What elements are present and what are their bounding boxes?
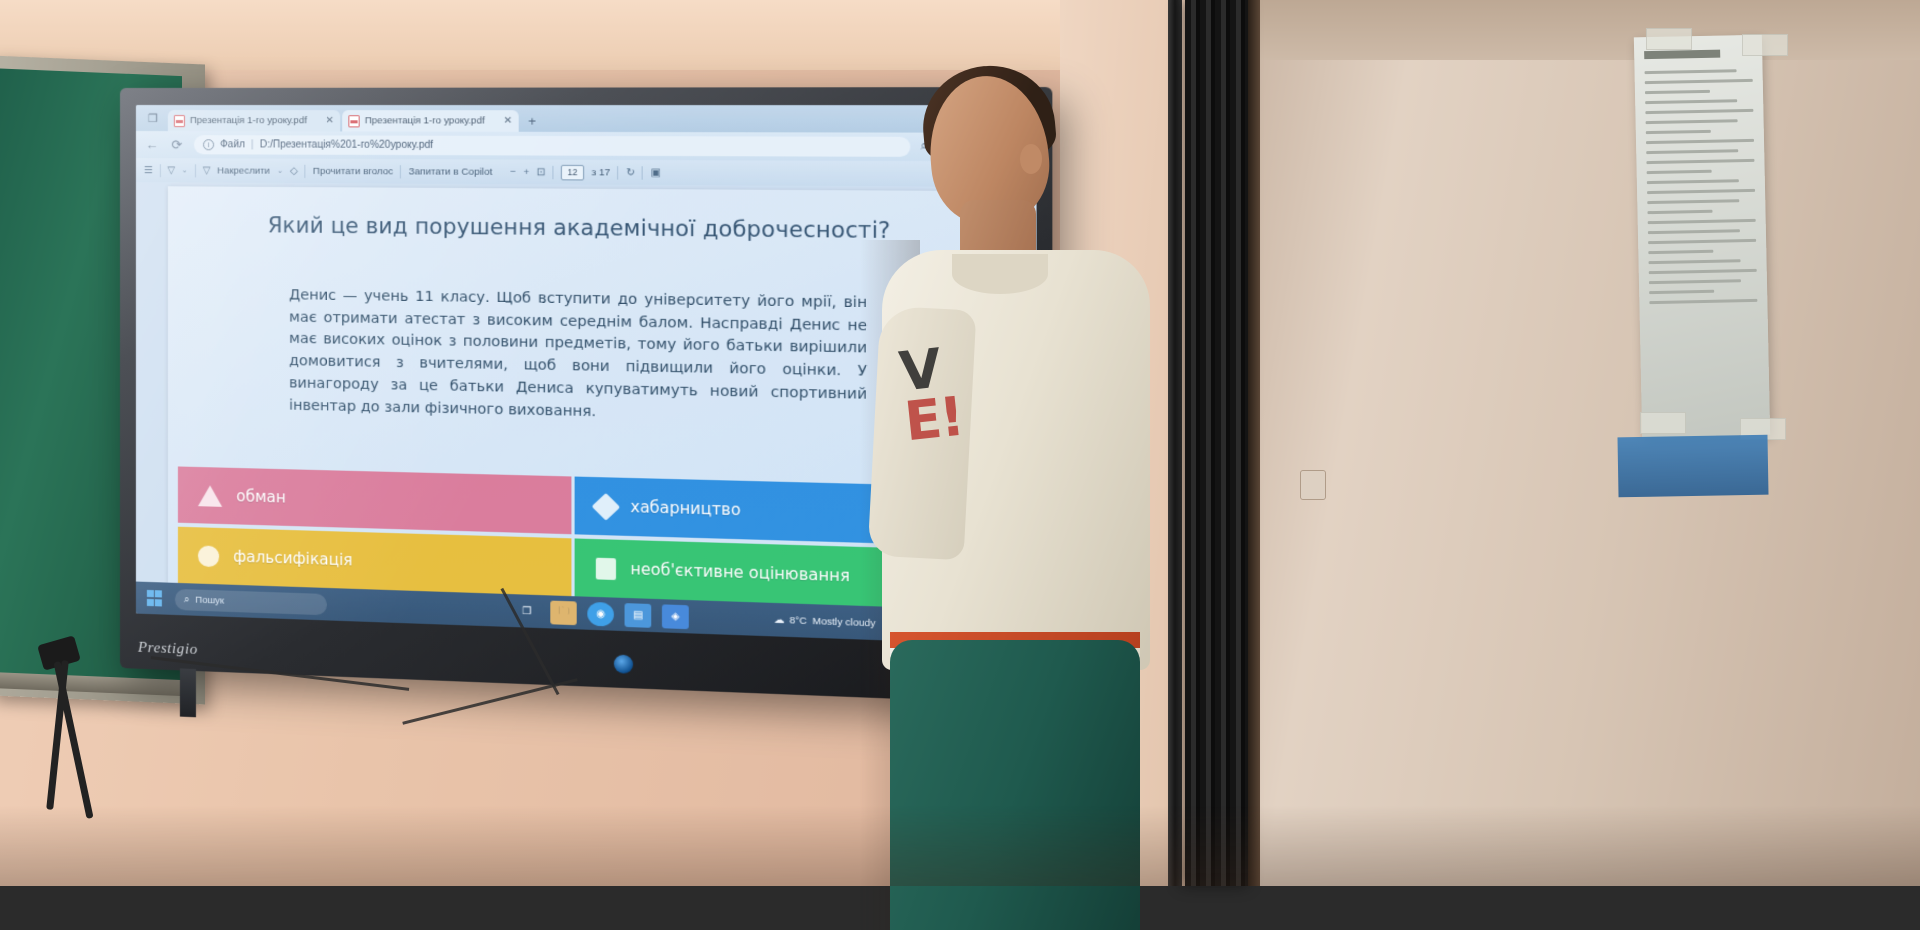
wall-far (1255, 0, 1920, 886)
circle-icon (198, 545, 219, 567)
highlight-chevron-down-icon[interactable]: ⌄ (182, 166, 188, 174)
page-total-label: з 17 (591, 167, 610, 178)
sidebar-toggle-icon[interactable]: ☰ (144, 165, 153, 176)
back-icon[interactable]: ← (144, 137, 160, 153)
divider (195, 164, 196, 177)
rotate-icon[interactable]: ↻ (626, 167, 635, 178)
answer-label: хабарництво (630, 498, 740, 520)
slide-body-text: Денис — учень 11 класу. Щоб вступити до … (289, 285, 867, 429)
store-icon[interactable]: ▤ (625, 603, 652, 628)
answer-label: обман (236, 487, 285, 507)
triangle-icon (198, 485, 222, 507)
draw-button-label[interactable]: Накреслити (217, 165, 270, 176)
door-frame (1248, 0, 1260, 886)
answer-option-1[interactable]: обман (178, 466, 571, 534)
copilot-button[interactable]: Запитати в Copilot (409, 166, 493, 178)
weather-temp: 8°C (790, 614, 807, 626)
new-tab-button[interactable]: + (521, 113, 544, 132)
divider (642, 166, 643, 179)
tape-bottom-left (1640, 412, 1686, 434)
windows-icon (147, 590, 162, 606)
read-aloud-button[interactable]: Прочитати вголос (313, 165, 393, 177)
pdf-file-icon (348, 115, 359, 127)
wall-socket (1300, 470, 1326, 500)
file-explorer-icon[interactable]: 🗀 (550, 600, 576, 625)
tape-top-right (1742, 34, 1788, 56)
floor-shadow (0, 806, 1920, 886)
answer-label: необ'єктивне оцінювання (630, 560, 849, 586)
pdf-file-icon (174, 115, 185, 127)
tshirt-print: V E! (897, 333, 1059, 561)
copilot-icon[interactable]: ◈ (662, 604, 689, 629)
tab-title: Презентація 1-го уроку.pdf (365, 115, 499, 126)
answer-label: фальсифікація (233, 548, 352, 570)
browser-tab-2[interactable]: Презентація 1-го уроку.pdf ✕ (342, 110, 518, 132)
draw-icon[interactable]: ▽ (203, 165, 210, 176)
fit-to-page-icon[interactable]: ⊡ (537, 166, 545, 177)
diamond-icon (591, 492, 620, 520)
start-button[interactable] (144, 587, 165, 609)
display-stand-left (180, 668, 196, 717)
search-icon: ⌕ (184, 594, 189, 605)
info-icon[interactable]: i (203, 139, 214, 150)
divider (159, 164, 160, 177)
page-number-input[interactable]: 12 (561, 164, 584, 180)
edge-icon[interactable]: ◉ (587, 601, 614, 626)
tab-actions-icon[interactable]: ❐ (144, 109, 162, 127)
zoom-in-button[interactable]: + (523, 166, 529, 177)
address-input[interactable]: i Файл | D:/Презентація%201-го%20уроку.p… (194, 135, 911, 157)
display-brand: Prestigio (138, 640, 198, 659)
tab-title: Презентація 1-го уроку.pdf (190, 115, 320, 126)
divider (552, 165, 553, 178)
wall-poster (1634, 35, 1770, 438)
url-scheme-label: Файл (220, 139, 245, 150)
cloud-icon: ☁ (774, 614, 784, 626)
url-separator: | (251, 139, 254, 150)
square-icon (595, 557, 615, 579)
layout-icon[interactable]: ▣ (651, 167, 661, 178)
tape-top-left (1646, 28, 1692, 50)
draw-chevron-down-icon[interactable]: ⌄ (277, 167, 283, 175)
classroom-scene: Prestigio ❐ Презентація 1-го уроку.pdf ✕… (0, 0, 1920, 886)
divider (400, 165, 401, 178)
url-path: D:/Презентація%201-го%20уроку.pdf (260, 139, 433, 151)
person-standing: V E! (900, 40, 1230, 886)
slide-title: Який це вид порушення академічної доброч… (196, 213, 969, 244)
taskbar-search-input[interactable]: ⌕ Пошук (175, 588, 327, 614)
wall-far-top (1255, 0, 1920, 60)
shorts (890, 640, 1140, 930)
divider (618, 166, 619, 179)
erase-icon[interactable]: ◇ (290, 165, 297, 176)
close-icon[interactable]: ✕ (325, 115, 334, 126)
highlight-icon[interactable]: ▽ (167, 165, 174, 176)
tshirt-collar (952, 254, 1048, 294)
power-indicator (614, 654, 633, 673)
divider (305, 164, 306, 177)
wall-poster-blue (1617, 435, 1768, 498)
search-placeholder: Пошук (195, 594, 224, 606)
zoom-out-button[interactable]: − (510, 166, 516, 177)
close-icon[interactable]: ✕ (504, 115, 513, 126)
reload-icon[interactable]: ⟳ (169, 137, 185, 153)
tshirt-print-line2: E! (902, 383, 1046, 447)
ear (1020, 144, 1042, 174)
browser-tab-1[interactable]: Презентація 1-го уроку.pdf ✕ (168, 110, 340, 131)
